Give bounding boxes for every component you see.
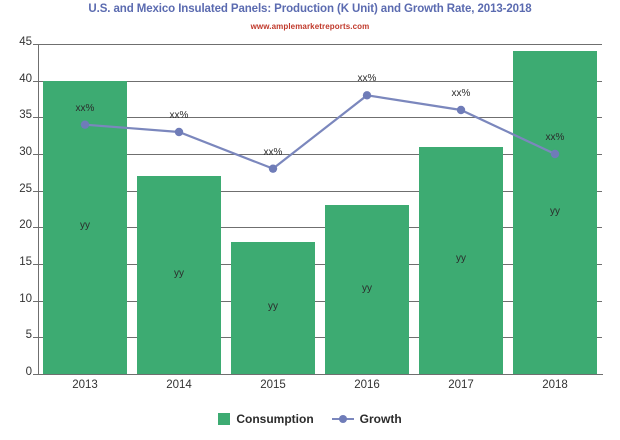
chart-legend: Consumption Growth xyxy=(0,412,620,426)
legend-line-marker-icon xyxy=(332,413,354,425)
growth-data-label: xx% xyxy=(525,132,585,143)
line-series-growth xyxy=(38,44,602,375)
x-axis-label: 2013 xyxy=(55,379,115,391)
growth-line-marker[interactable] xyxy=(269,164,277,172)
y-axis-label: 15 xyxy=(4,256,32,268)
x-axis-label: 2016 xyxy=(337,379,397,391)
growth-data-label: xx% xyxy=(149,110,209,121)
growth-data-label: xx% xyxy=(55,103,115,114)
y-axis-label: 0 xyxy=(4,366,32,378)
legend-item-growth[interactable]: Growth xyxy=(332,412,402,426)
growth-line-marker[interactable] xyxy=(457,106,465,114)
x-axis-label: 2017 xyxy=(431,379,491,391)
y-axis-label: 25 xyxy=(4,183,32,195)
y-axis-label: 10 xyxy=(4,293,32,305)
growth-line-marker[interactable] xyxy=(81,120,89,128)
y-axis-label: 40 xyxy=(4,73,32,85)
x-axis-label: 2014 xyxy=(149,379,209,391)
growth-data-label: xx% xyxy=(431,88,491,99)
growth-data-label: xx% xyxy=(337,73,397,84)
growth-data-label: xx% xyxy=(243,147,303,158)
chart-container: U.S. and Mexico Insulated Panels: Produc… xyxy=(0,0,620,440)
legend-item-consumption[interactable]: Consumption xyxy=(218,412,313,426)
growth-line-marker[interactable] xyxy=(551,150,559,158)
y-axis-label: 20 xyxy=(4,219,32,231)
growth-line-marker[interactable] xyxy=(175,128,183,136)
chart-subtitle-url: www.amplemarketreports.com xyxy=(0,22,620,31)
legend-square-icon xyxy=(218,413,230,425)
y-axis-label: 35 xyxy=(4,109,32,121)
y-axis-label: 30 xyxy=(4,146,32,158)
chart-title: U.S. and Mexico Insulated Panels: Produc… xyxy=(0,3,620,15)
legend-label-consumption: Consumption xyxy=(236,412,313,426)
y-axis-label: 45 xyxy=(4,36,32,48)
growth-line-marker[interactable] xyxy=(363,91,371,99)
x-axis-label: 2015 xyxy=(243,379,303,391)
growth-line-path xyxy=(85,95,555,168)
legend-label-growth: Growth xyxy=(360,412,402,426)
x-axis-label: 2018 xyxy=(525,379,585,391)
y-axis-label: 5 xyxy=(4,329,32,341)
